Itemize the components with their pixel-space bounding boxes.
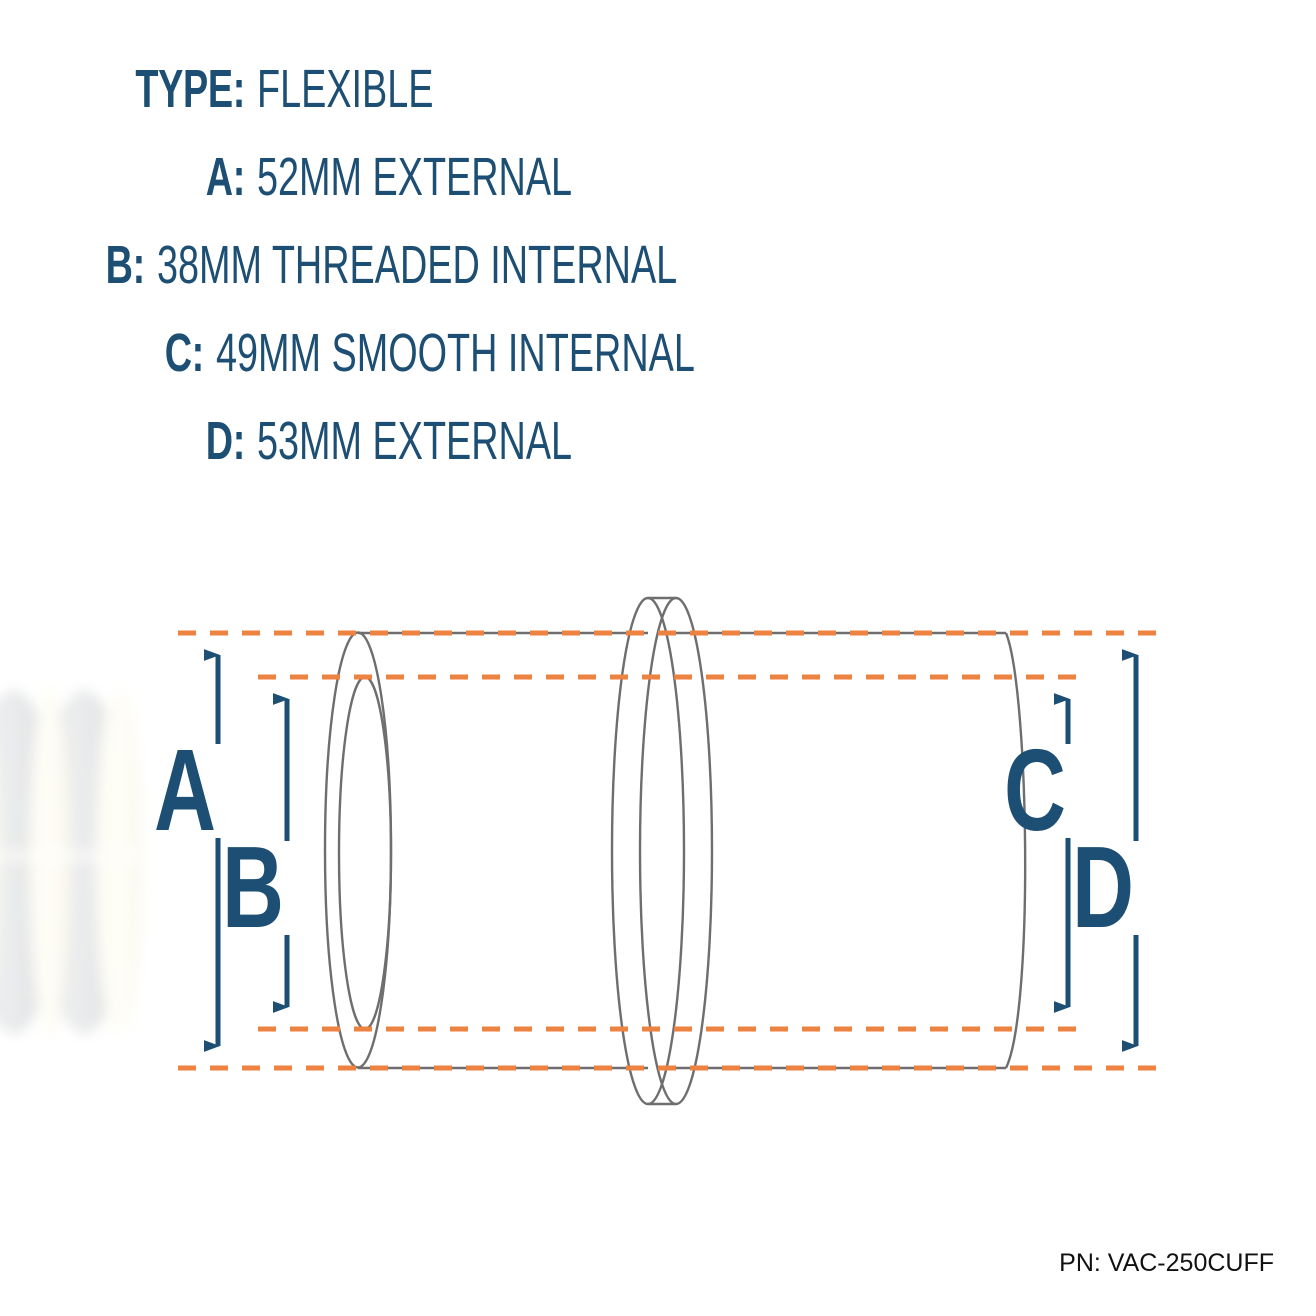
left-end-outer-ellipse: [325, 633, 391, 1068]
part-number-label: PN: VAC-250CUFF: [1059, 1249, 1274, 1278]
dimension-letter-a: A: [145, 748, 216, 832]
dimension-arrows: [218, 655, 1136, 1046]
dimension-letter-b: B: [213, 845, 284, 929]
dimension-letter-d: D: [1063, 845, 1134, 929]
dimension-letter-c: C: [995, 748, 1066, 832]
product-dimension-diagram: TYPE: FLEXIBLE A: 52MM EXTERNAL B: 38MM …: [0, 0, 1316, 1316]
left-end-bore-ellipse: [339, 677, 391, 1029]
technical-drawing: [0, 0, 1316, 1316]
